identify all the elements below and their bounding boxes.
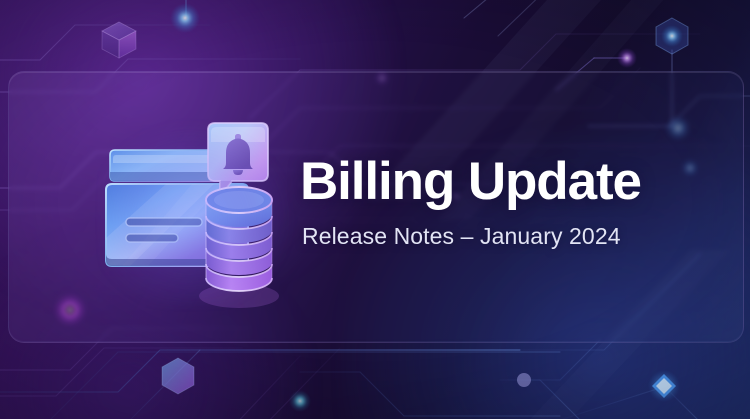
billing-update-banner: Billing Update Release Notes – January 2… bbox=[0, 0, 750, 419]
background-vignette bbox=[0, 0, 750, 419]
